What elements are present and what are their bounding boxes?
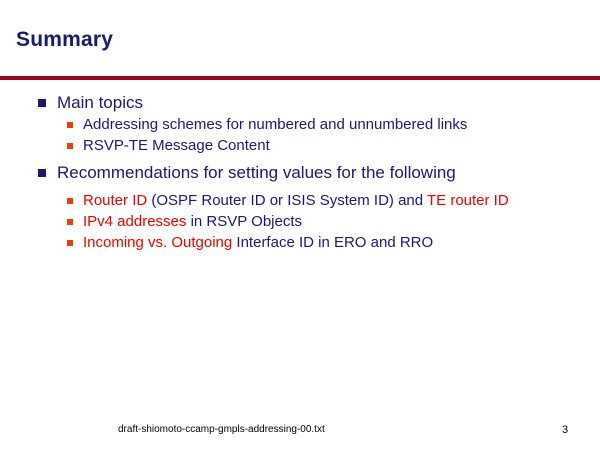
- text-segment: Interface ID in ERO and RRO: [236, 234, 433, 251]
- bullet-item-addressing-schemes: Addressing schemes for numbered and unnu…: [0, 115, 600, 135]
- bullet-item-recommendations: Recommendations for setting values for t…: [0, 162, 600, 184]
- bullet-text: RSVP-TE Message Content: [83, 136, 270, 156]
- text-segment-emphasis: Incoming vs. Outgoing: [83, 234, 236, 251]
- square-bullet-red-icon: [67, 219, 73, 225]
- bullet-text: Recommendations for setting values for t…: [57, 162, 456, 184]
- footer-page-number: 3: [562, 424, 568, 436]
- bullet-list: Main topics Addressing schemes for numbe…: [0, 92, 600, 254]
- bullet-item-incoming-vs-outgoing: Incoming vs. Outgoing Interface ID in ER…: [0, 233, 600, 253]
- title-divider-rule: [0, 76, 600, 80]
- square-bullet-navy-icon: [38, 99, 46, 107]
- bullet-item-ipv4-addresses: IPv4 addresses in RSVP Objects: [0, 212, 600, 232]
- text-segment-emphasis: TE router ID: [427, 192, 509, 209]
- bullet-item-main-topics: Main topics: [0, 92, 600, 114]
- text-segment: (OSPF Router ID or ISIS System ID) and: [151, 192, 427, 209]
- square-bullet-navy-icon: [38, 169, 46, 177]
- square-bullet-red-icon: [67, 122, 73, 128]
- text-segment-emphasis: Router ID: [83, 192, 151, 209]
- bullet-text: IPv4 addresses in RSVP Objects: [83, 212, 302, 232]
- square-bullet-red-icon: [67, 240, 73, 246]
- bullet-item-router-id: Router ID (OSPF Router ID or ISIS System…: [0, 191, 600, 211]
- bullet-text: Addressing schemes for numbered and unnu…: [83, 115, 467, 135]
- footer-document-name: draft-shiomoto-ccamp-gmpls-addressing-00…: [118, 424, 325, 435]
- text-segment-emphasis: IPv4 addresses: [83, 213, 191, 230]
- bullet-text: Main topics: [57, 92, 143, 114]
- text-segment: RSVP-TE Message Content: [83, 137, 270, 154]
- slide-canvas: Summary Main topics Addressing schemes f…: [0, 0, 600, 450]
- square-bullet-red-icon: [67, 198, 73, 204]
- page-title: Summary: [16, 28, 113, 52]
- bullet-item-rsvp-te-message-content: RSVP-TE Message Content: [0, 136, 600, 156]
- text-segment: Addressing schemes for numbered and unnu…: [83, 116, 467, 133]
- bullet-text: Router ID (OSPF Router ID or ISIS System…: [83, 191, 509, 211]
- bullet-text: Incoming vs. Outgoing Interface ID in ER…: [83, 233, 433, 253]
- text-segment: in RSVP Objects: [191, 213, 302, 230]
- square-bullet-red-icon: [67, 143, 73, 149]
